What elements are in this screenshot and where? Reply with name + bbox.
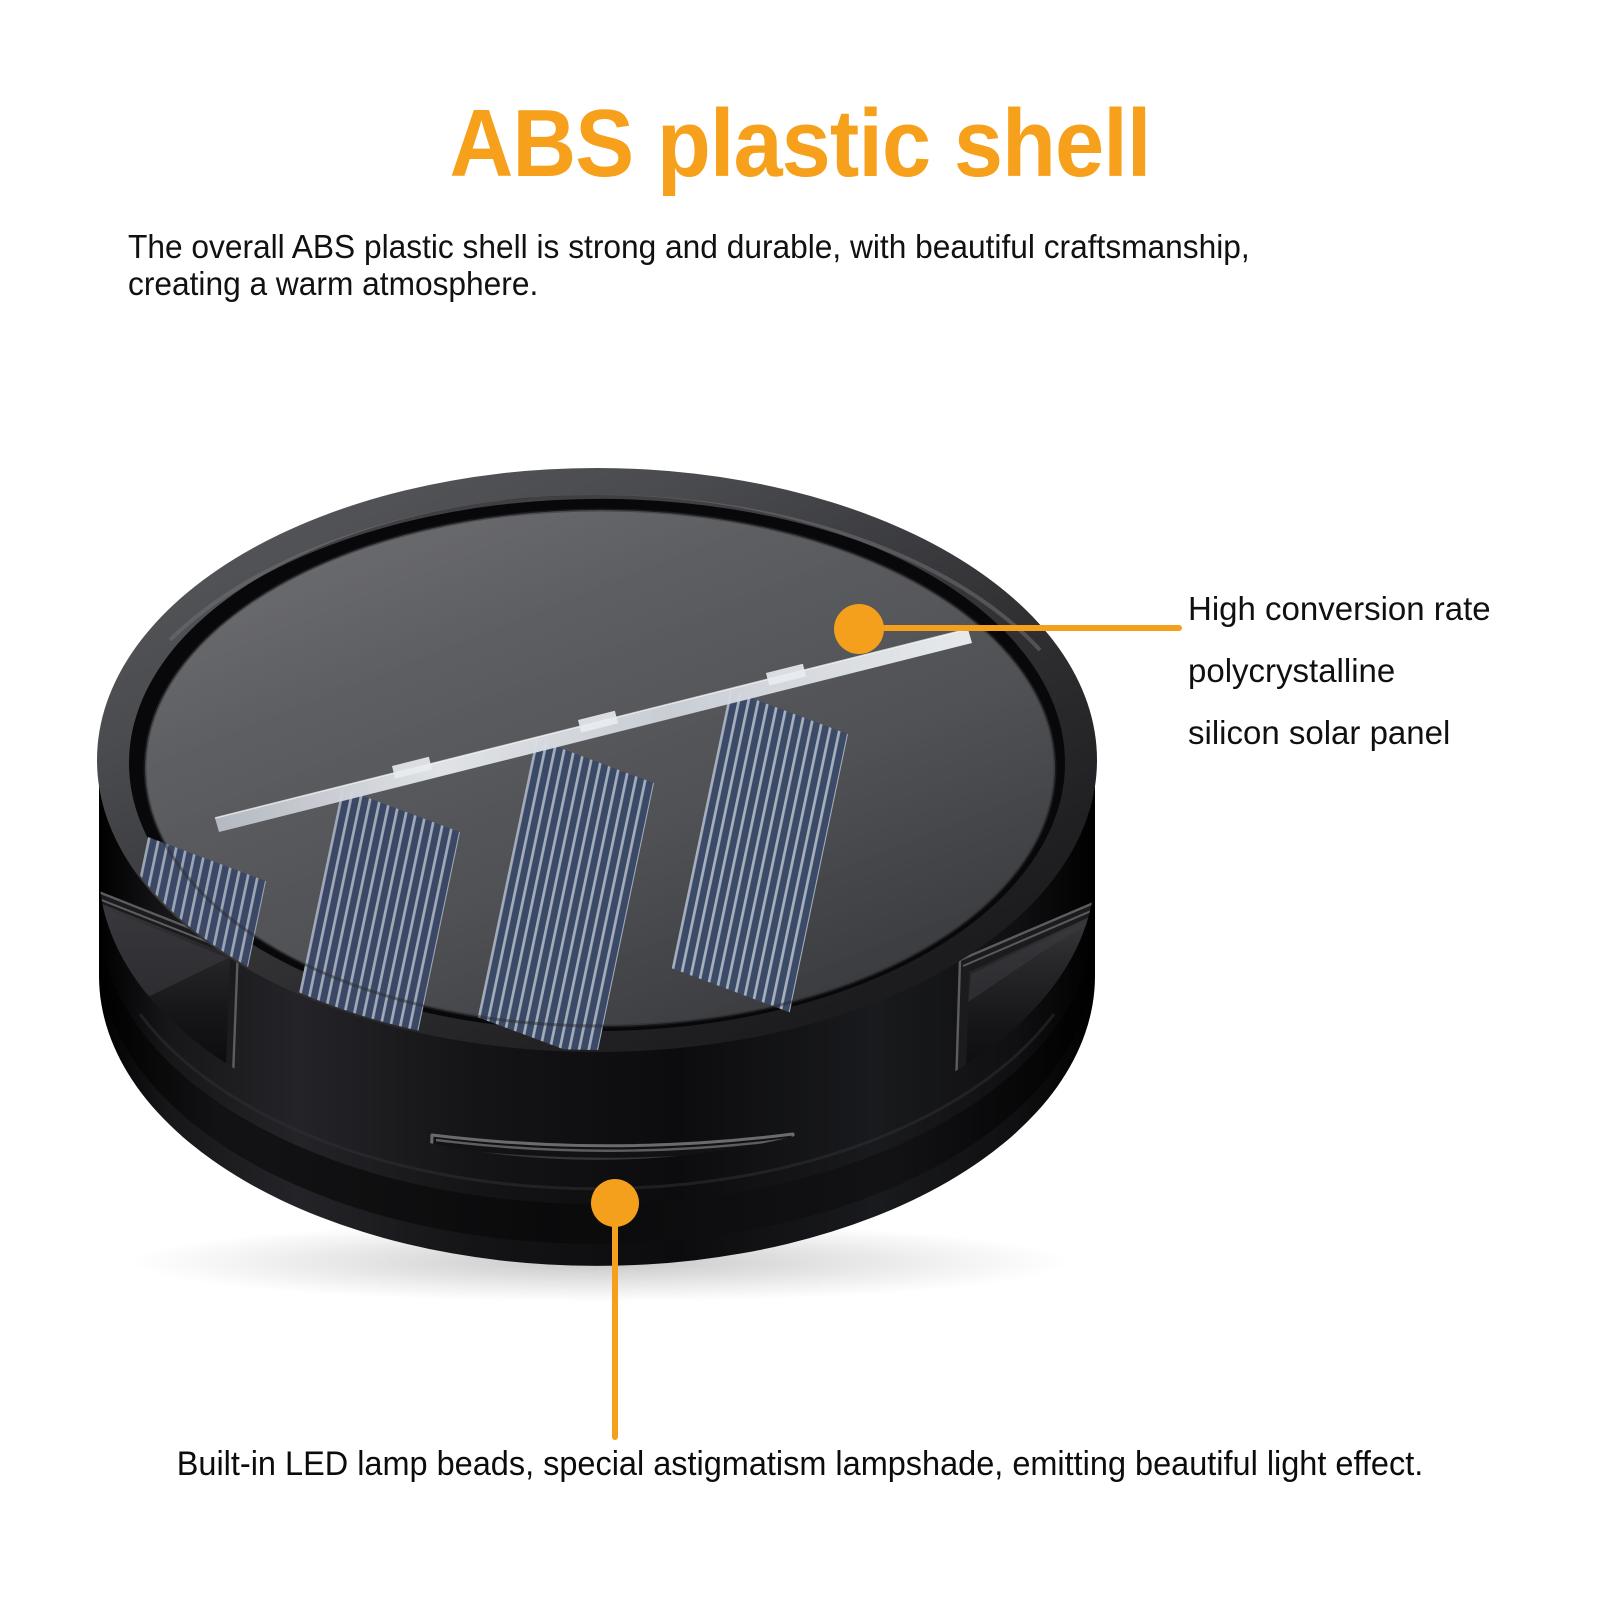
callout-text-solar-panel: High conversion rate polycrystalline sil… bbox=[1188, 578, 1588, 764]
page-title: ABS plastic shell bbox=[64, 96, 1536, 192]
product-photo-solar-light bbox=[0, 400, 1600, 1350]
callout-solar-line-1: High conversion rate bbox=[1188, 578, 1588, 640]
page-subtitle: The overall ABS plastic shell is strong … bbox=[128, 228, 1414, 302]
callout-leader-led-lamp bbox=[612, 1212, 618, 1440]
callout-solar-line-2: polycrystalline bbox=[1188, 640, 1588, 702]
callout-solar-line-3: silicon solar panel bbox=[1188, 702, 1588, 764]
callout-text-led-lamp: Built-in LED lamp beads, special astigma… bbox=[36, 1443, 1564, 1485]
callout-leader-solar-panel bbox=[860, 625, 1182, 631]
infographic-canvas: ABS plastic shell The overall ABS plasti… bbox=[0, 0, 1600, 1600]
subtitle-line-2: creating a warm atmosphere. bbox=[128, 265, 1414, 302]
subtitle-line-1: The overall ABS plastic shell is strong … bbox=[128, 228, 1414, 265]
